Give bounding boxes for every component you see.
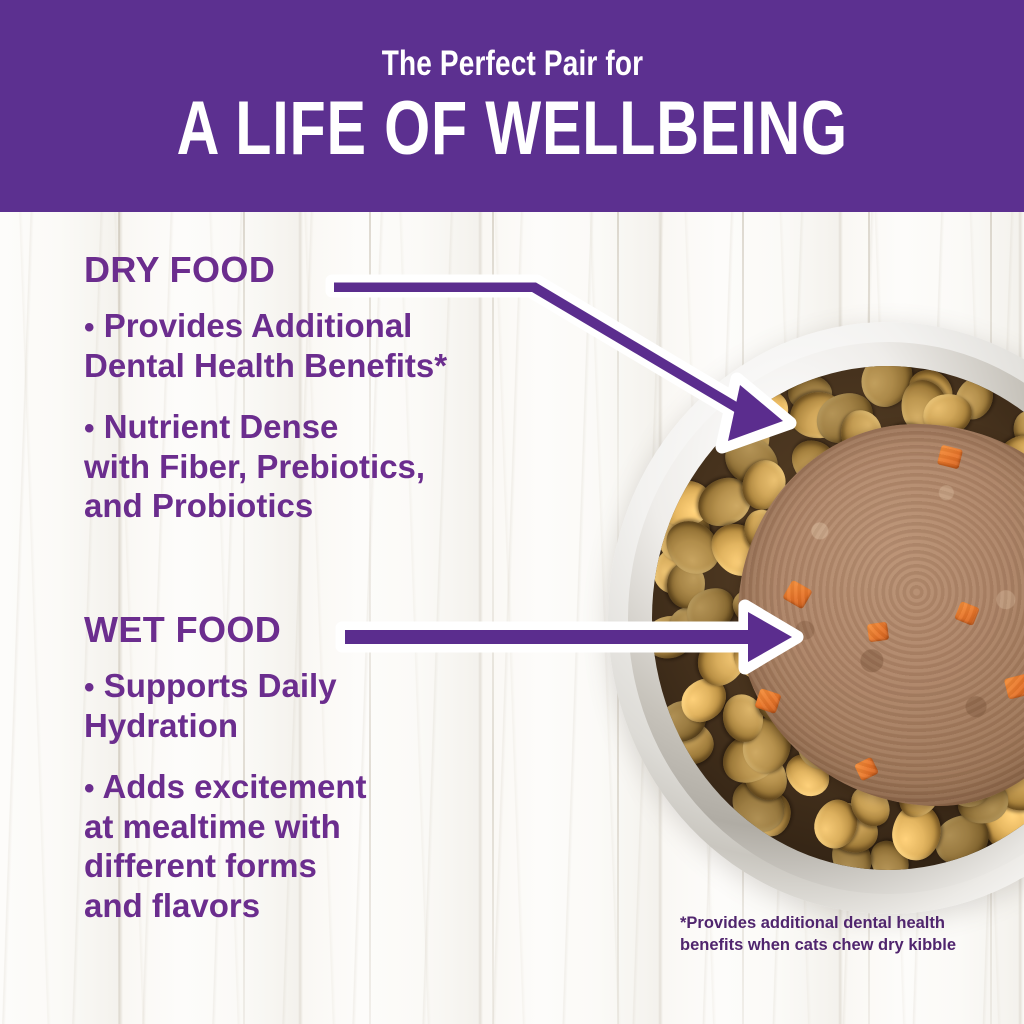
callout-arrows bbox=[0, 0, 1024, 1024]
footnote-line-2: benefits when cats chew dry kibble bbox=[680, 934, 1000, 956]
infographic-canvas: The Perfect Pair for A LIFE OF WELLBEING… bbox=[0, 0, 1024, 1024]
wet-food-arrow bbox=[342, 606, 797, 668]
footnote-line-1: *Provides additional dental health bbox=[680, 912, 1000, 934]
footnote: *Provides additional dental health benef… bbox=[680, 912, 1000, 957]
dry-food-arrow bbox=[332, 281, 790, 447]
